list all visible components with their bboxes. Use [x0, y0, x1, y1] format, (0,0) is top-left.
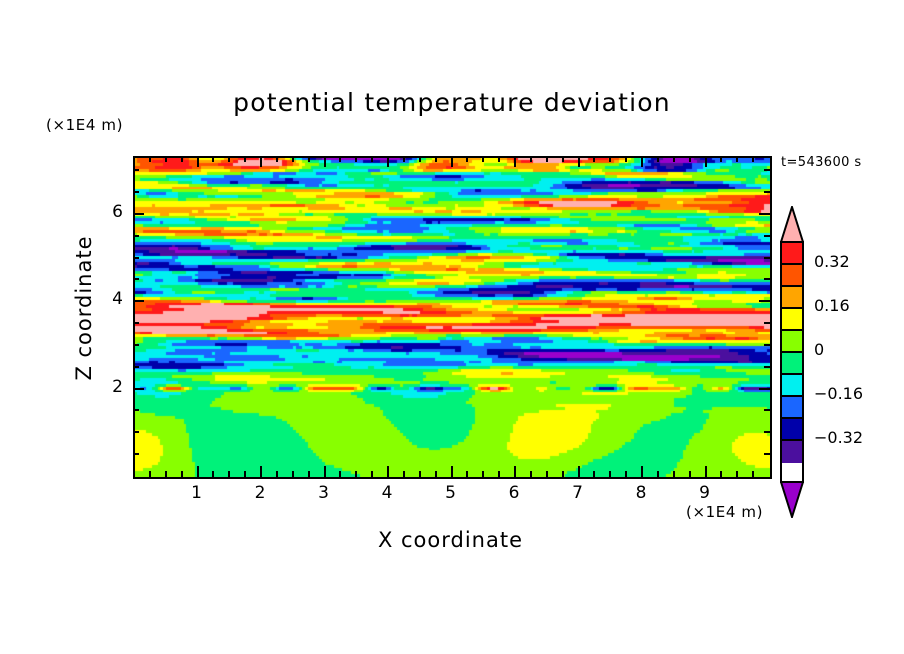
x-minor-tick-top — [546, 156, 548, 162]
x-tick-label: 8 — [626, 483, 656, 503]
x-major-tick — [387, 466, 389, 477]
x-minor-tick — [435, 471, 437, 477]
x-minor-tick — [419, 471, 421, 477]
y-major-tick-right — [759, 388, 770, 390]
x-major-tick — [705, 466, 707, 477]
colorbar-cell — [782, 287, 802, 309]
x-minor-tick-top — [292, 156, 294, 162]
y-tick-label: 2 — [93, 377, 123, 397]
x-minor-tick-top — [736, 156, 738, 162]
y-minor-tick-right — [764, 169, 770, 171]
x-minor-tick — [244, 471, 246, 477]
x-tick-label: 9 — [690, 483, 720, 503]
x-minor-tick-top — [609, 156, 611, 162]
x-minor-tick-top — [244, 156, 246, 162]
x-major-tick — [324, 466, 326, 477]
y-major-tick — [133, 388, 144, 390]
y-minor-tick-right — [764, 409, 770, 411]
y-major-tick — [133, 213, 144, 215]
x-minor-tick — [292, 471, 294, 477]
x-major-tick — [260, 466, 262, 477]
x-major-tick — [641, 466, 643, 477]
y-minor-tick — [133, 235, 139, 237]
x-tick-label: 4 — [372, 483, 402, 503]
x-major-tick-top — [514, 156, 516, 167]
y-axis-title: Z coordinate — [72, 198, 96, 418]
x-major-tick-top — [324, 156, 326, 167]
x-major-tick-top — [705, 156, 707, 167]
y-tick-label: 4 — [93, 289, 123, 309]
x-minor-tick — [371, 471, 373, 477]
x-minor-tick-top — [276, 156, 278, 162]
x-minor-tick-top — [673, 156, 675, 162]
x-minor-tick — [212, 471, 214, 477]
x-minor-tick — [720, 471, 722, 477]
x-minor-tick — [609, 471, 611, 477]
y-major-tick-right — [759, 213, 770, 215]
x-minor-tick-top — [593, 156, 595, 162]
y-major-tick — [133, 300, 144, 302]
x-minor-tick-top — [689, 156, 691, 162]
y-minor-tick — [133, 322, 139, 324]
x-minor-tick — [181, 471, 183, 477]
x-minor-tick-top — [355, 156, 357, 162]
x-minor-tick — [689, 471, 691, 477]
x-minor-tick — [308, 471, 310, 477]
x-minor-tick — [625, 471, 627, 477]
y-minor-tick-right — [764, 191, 770, 193]
y-minor-tick-right — [764, 235, 770, 237]
x-minor-tick — [673, 471, 675, 477]
x-minor-tick-top — [720, 156, 722, 162]
x-major-tick — [514, 466, 516, 477]
x-major-tick-top — [260, 156, 262, 167]
x-minor-tick-top — [403, 156, 405, 162]
x-axis-units-label: (×1E4 m) — [686, 503, 763, 521]
x-minor-tick — [736, 471, 738, 477]
x-minor-tick-top — [482, 156, 484, 162]
colorbar-cell — [782, 265, 802, 287]
x-minor-tick-top — [562, 156, 564, 162]
x-tick-label: 3 — [309, 483, 339, 503]
x-minor-tick — [498, 471, 500, 477]
y-minor-tick-right — [764, 366, 770, 368]
x-major-tick-top — [451, 156, 453, 167]
x-tick-label: 1 — [182, 483, 212, 503]
x-tick-label: 7 — [563, 483, 593, 503]
colorbar-cell — [782, 243, 802, 265]
colorbar-cell — [782, 375, 802, 397]
x-major-tick-top — [578, 156, 580, 167]
y-tick-label: 6 — [93, 202, 123, 222]
x-minor-tick-top — [657, 156, 659, 162]
x-major-tick-top — [387, 156, 389, 167]
y-axis-units-label: (×1E4 m) — [46, 116, 123, 134]
x-minor-tick-top — [181, 156, 183, 162]
colorbar-tick-label: 0.32 — [814, 252, 850, 271]
y-minor-tick-right — [764, 278, 770, 280]
y-minor-tick — [133, 191, 139, 193]
colorbar-tick-label: −0.16 — [814, 384, 863, 403]
colorbar-cell — [782, 419, 802, 441]
x-minor-tick-top — [466, 156, 468, 162]
x-minor-tick — [403, 471, 405, 477]
x-minor-tick-top — [625, 156, 627, 162]
y-minor-tick — [133, 409, 139, 411]
x-minor-tick-top — [165, 156, 167, 162]
x-major-tick — [451, 466, 453, 477]
colorbar-cell — [782, 397, 802, 419]
x-minor-tick-top — [498, 156, 500, 162]
colorbar: 0.320.160−0.16−0.32 — [780, 206, 804, 518]
x-minor-tick — [752, 471, 754, 477]
colorbar-cell — [782, 331, 802, 353]
x-minor-tick — [149, 471, 151, 477]
x-major-tick-top — [641, 156, 643, 167]
x-minor-tick-top — [339, 156, 341, 162]
x-minor-tick-top — [371, 156, 373, 162]
y-minor-tick-right — [764, 344, 770, 346]
x-minor-tick — [276, 471, 278, 477]
timestamp-label: t=543600 s — [781, 155, 862, 170]
y-minor-tick-right — [764, 322, 770, 324]
x-minor-tick — [562, 471, 564, 477]
x-minor-tick — [165, 471, 167, 477]
x-minor-tick — [657, 471, 659, 477]
x-major-tick-top — [197, 156, 199, 167]
colorbar-top-arrow-icon — [780, 206, 804, 243]
y-minor-tick — [133, 453, 139, 455]
x-minor-tick-top — [212, 156, 214, 162]
x-minor-tick-top — [435, 156, 437, 162]
x-tick-label: 2 — [245, 483, 275, 503]
x-tick-label: 6 — [499, 483, 529, 503]
contour-field-canvas — [135, 158, 770, 477]
colorbar-cell — [782, 309, 802, 331]
x-minor-tick — [228, 471, 230, 477]
colorbar-tick-label: 0 — [814, 340, 824, 359]
x-minor-tick — [593, 471, 595, 477]
x-minor-tick-top — [530, 156, 532, 162]
x-tick-label: 5 — [436, 483, 466, 503]
colorbar-cell — [782, 353, 802, 375]
colorbar-cell — [782, 441, 802, 463]
x-minor-tick — [530, 471, 532, 477]
x-minor-tick-top — [752, 156, 754, 162]
x-minor-tick-top — [149, 156, 151, 162]
x-minor-tick — [546, 471, 548, 477]
y-minor-tick — [133, 344, 139, 346]
plot-root: potential temperature deviation (×1E4 m)… — [0, 0, 904, 654]
y-minor-tick — [133, 257, 139, 259]
x-axis-title: X coordinate — [133, 528, 768, 552]
x-minor-tick — [466, 471, 468, 477]
contour-plot-area — [133, 156, 772, 479]
y-minor-tick-right — [764, 257, 770, 259]
x-minor-tick-top — [228, 156, 230, 162]
y-minor-tick-right — [764, 431, 770, 433]
x-minor-tick-top — [308, 156, 310, 162]
x-minor-tick-top — [419, 156, 421, 162]
x-major-tick — [197, 466, 199, 477]
x-minor-tick — [355, 471, 357, 477]
y-minor-tick — [133, 366, 139, 368]
y-minor-tick — [133, 431, 139, 433]
y-major-tick-right — [759, 300, 770, 302]
colorbar-tick-label: 0.16 — [814, 296, 850, 315]
x-minor-tick — [482, 471, 484, 477]
colorbar-cells — [780, 241, 804, 483]
colorbar-tick-label: −0.32 — [814, 428, 863, 447]
x-minor-tick — [339, 471, 341, 477]
colorbar-bottom-arrow-icon — [780, 481, 804, 518]
page-title: potential temperature deviation — [0, 88, 904, 117]
y-minor-tick — [133, 278, 139, 280]
y-minor-tick — [133, 169, 139, 171]
y-minor-tick-right — [764, 453, 770, 455]
x-major-tick — [578, 466, 580, 477]
